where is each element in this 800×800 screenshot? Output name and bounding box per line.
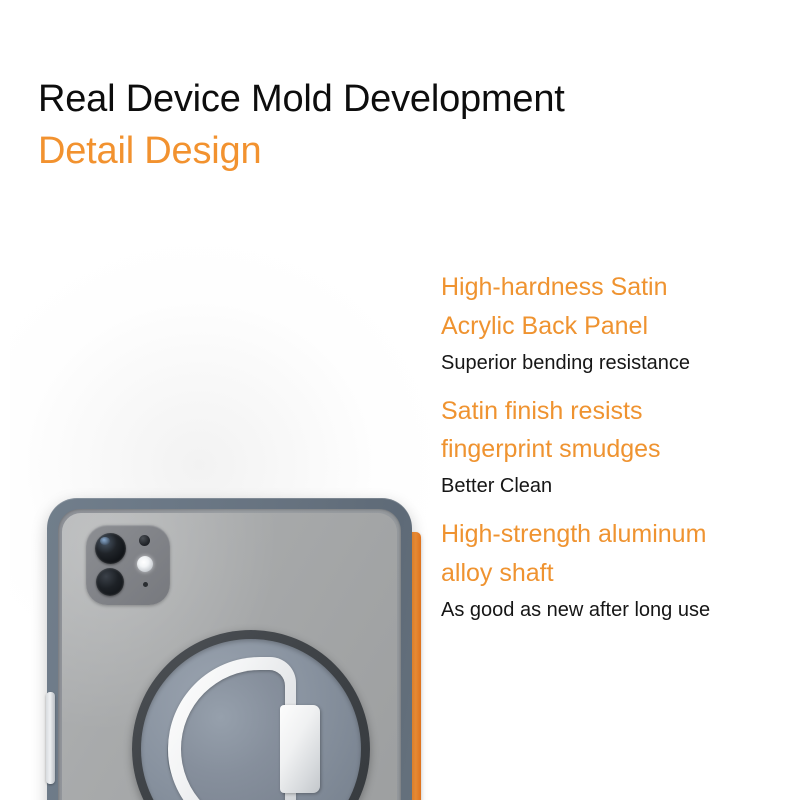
heading-block: Real Device Mold Development Detail Desi…	[38, 78, 758, 175]
feature-title-line2: Acrylic Back Panel	[441, 307, 791, 346]
page-title: Real Device Mold Development	[38, 78, 758, 122]
product-image: iPad Designed by Apple in California	[0, 240, 430, 740]
page-subtitle: Detail Design	[38, 128, 758, 176]
kickstand-handle-body	[168, 657, 296, 800]
camera-microphone-icon	[143, 582, 148, 587]
product-detail-page: Real Device Mold Development Detail Desi…	[0, 0, 800, 800]
kickstand-handle	[168, 657, 320, 800]
volume-button	[46, 692, 55, 784]
feature-description: Better Clean	[441, 471, 791, 501]
feature-title-line1: High-strength aluminum	[441, 515, 791, 554]
feature-item-1: Satin finish resists fingerprint smudges…	[441, 392, 791, 502]
acrylic-back-panel: iPad Designed by Apple in California	[62, 513, 397, 800]
case-inner-lip: iPad Designed by Apple in California	[58, 509, 401, 800]
camera-flash-icon	[137, 556, 153, 572]
kickstand-handle-aperture	[181, 670, 285, 800]
feature-list: High-hardness Satin Acrylic Back Panel S…	[441, 268, 791, 625]
feature-description: As good as new after long use	[441, 595, 791, 625]
feature-title-line1: Satin finish resists	[441, 392, 791, 431]
feature-title-line2: alloy shaft	[441, 554, 791, 593]
case-bumper-frame: iPad Designed by Apple in California	[47, 498, 412, 800]
camera-sensor-icon	[139, 535, 150, 546]
kickstand-handle-tab	[280, 705, 320, 793]
camera-lens-secondary-icon	[96, 568, 124, 596]
feature-title-line1: High-hardness Satin	[441, 268, 791, 307]
feature-item-2: High-strength aluminum alloy shaft As go…	[441, 515, 791, 625]
rotating-kickstand-ring	[132, 630, 370, 800]
feature-description: Superior bending resistance	[441, 348, 791, 378]
camera-module	[86, 525, 170, 605]
feature-title-line2: fingerprint smudges	[441, 430, 791, 469]
feature-item-0: High-hardness Satin Acrylic Back Panel S…	[441, 268, 791, 378]
camera-lens-primary-icon	[95, 533, 126, 564]
